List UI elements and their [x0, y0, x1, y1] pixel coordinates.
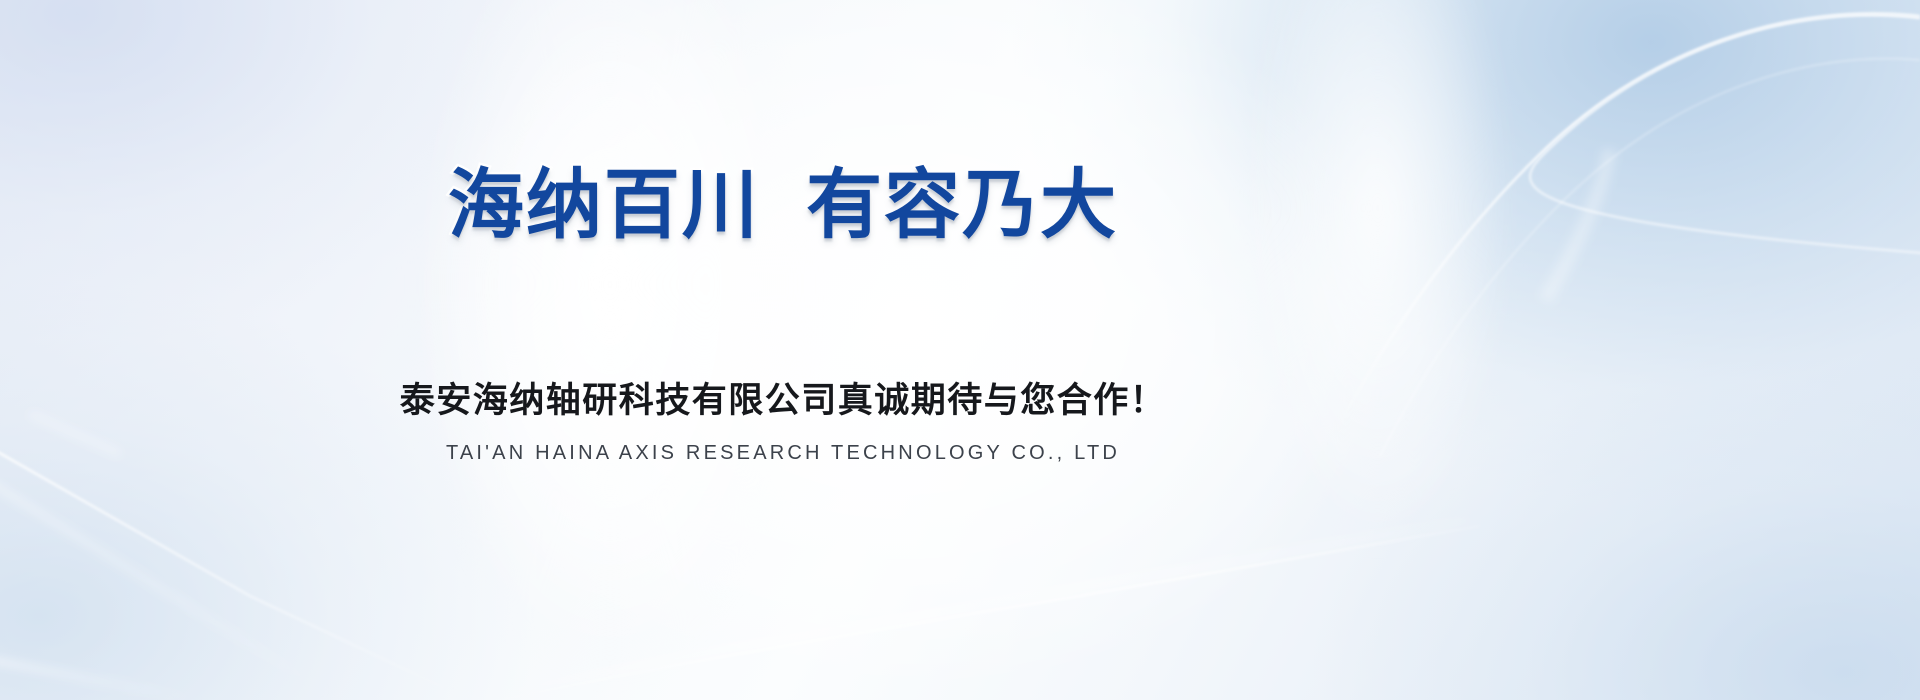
light-shaft-right — [1180, 0, 1610, 580]
arc-bottom-center-thin — [500, 526, 1480, 700]
arc-top-right — [1530, 15, 1920, 430]
arc-top-right-main — [1328, 13, 1920, 446]
arc-bottom-center — [470, 520, 1470, 700]
background-glow-upper-right — [0, 0, 1920, 700]
streak-lower-left-c — [0, 660, 200, 700]
background-glow-upper-left — [0, 0, 1920, 700]
banner-content: 海纳百川 有容乃大 泰安海纳轴研科技有限公司真诚期待与您合作！ TAI'AN H… — [0, 0, 1920, 700]
hero-banner: 海纳百川 有容乃大 泰安海纳轴研科技有限公司真诚期待与您合作！ TAI'AN H… — [0, 0, 1920, 700]
decorative-light-streaks — [0, 0, 1920, 700]
streak-lower-left-a — [0, 470, 330, 694]
page-title: 海纳百川 有容乃大 — [0, 163, 1566, 248]
haze-right — [1545, 150, 1610, 300]
light-shaft-left — [330, 0, 890, 700]
background-glow-lower-right — [0, 0, 1920, 700]
arc-top-right-secondary — [1380, 59, 1920, 456]
background-glow-lower-left — [0, 0, 1920, 700]
banner-subtitle-en: TAI'AN HAINA AXIS RESEARCH TECHNOLOGY CO… — [0, 440, 1566, 466]
background-glow-center — [0, 0, 1920, 700]
streak-lower-left-b — [0, 436, 470, 700]
banner-subtitle-cn: 泰安海纳轴研科技有限公司真诚期待与您合作！ — [0, 378, 1566, 424]
streak-lower-left-d — [30, 414, 120, 454]
